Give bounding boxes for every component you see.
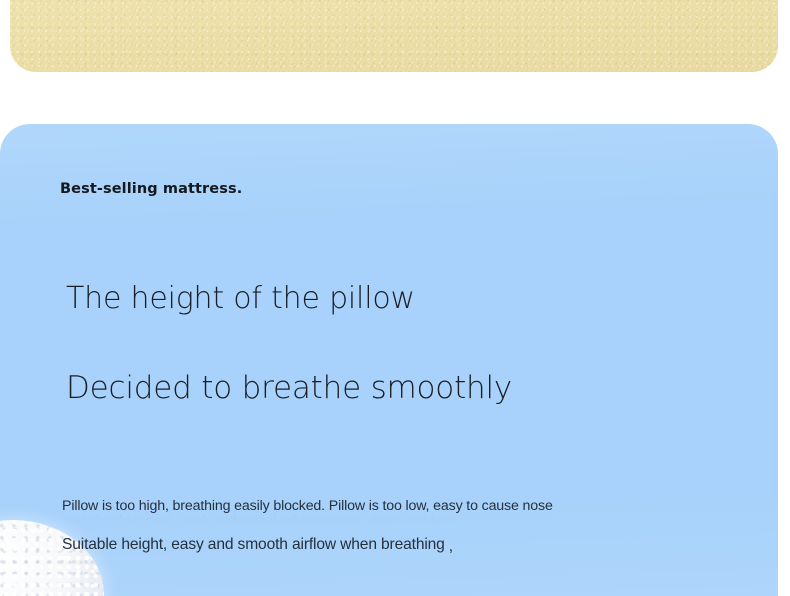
pillow-photo-corner (0, 520, 104, 596)
body-text-line-2: Suitable height, easy and smooth airflow… (62, 536, 453, 556)
body-text-line-2-text: Suitable height, easy and smooth airflow… (62, 536, 445, 553)
body-text-line-2-trailing-comma: , (445, 538, 453, 555)
eyebrow-label: Best-selling mattress. (60, 181, 242, 197)
headline-secondary: Decided to breathe smoothly (66, 370, 512, 406)
body-text-line-ghost: and shoulder pain, neck and spinal infla… (62, 513, 732, 529)
banner-texture-overlay (10, 0, 778, 72)
body-text-line-1: Pillow is too high, breathing easily blo… (62, 498, 553, 514)
top-cream-banner (10, 0, 778, 72)
page-root: Best-selling mattress. The height of the… (0, 0, 790, 596)
headline-primary: The height of the pillow (66, 281, 415, 316)
